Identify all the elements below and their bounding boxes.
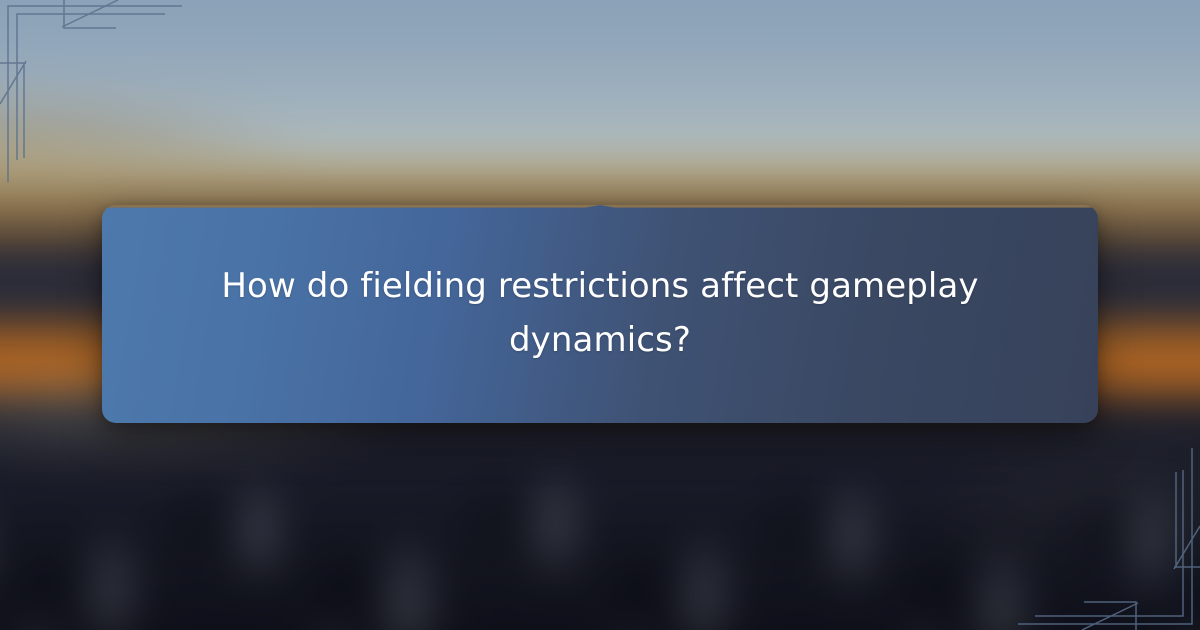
card-surface: How do fielding restrictions affect game… [102,205,1098,423]
poster-canvas: How do fielding restrictions affect game… [0,0,1200,630]
question-card: How do fielding restrictions affect game… [102,205,1098,423]
card-content: How do fielding restrictions affect game… [102,260,1098,367]
question-text: How do fielding restrictions affect game… [220,260,980,367]
